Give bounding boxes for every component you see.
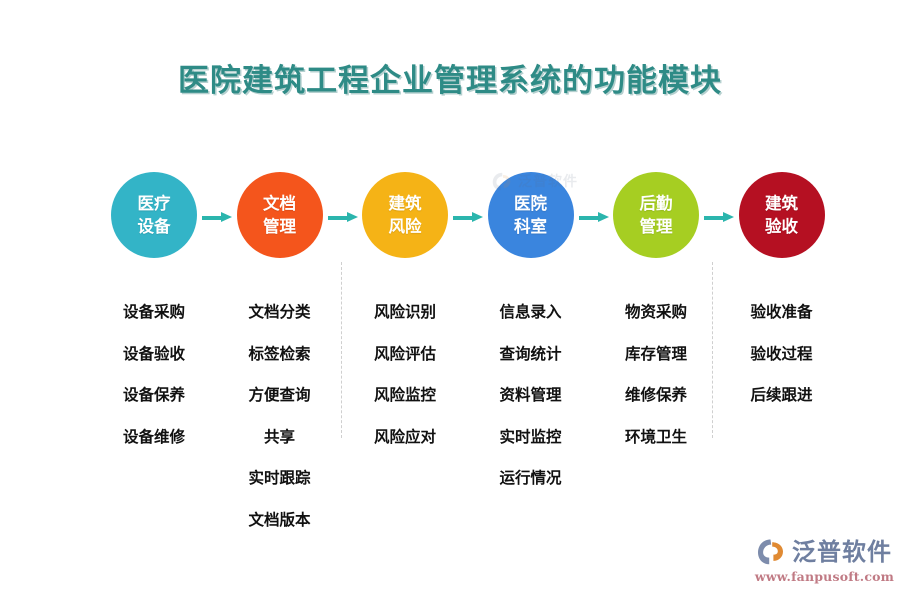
flow-node-medical-equipment[interactable]: 医疗设备: [111, 172, 197, 258]
slide-canvas: 医院建筑工程企业管理系统的功能模块 医疗设备文档管理建筑风险医院科室后勤管理建筑…: [0, 0, 900, 600]
flow-node-label-line2: 管理: [640, 215, 673, 238]
flow-node-label-line2: 管理: [263, 215, 296, 238]
flow-node-construction-risk[interactable]: 建筑风险: [362, 172, 448, 258]
fanpu-logo-icon: [757, 538, 787, 566]
flow-node-label-line1: 医疗: [138, 192, 171, 215]
feature-item[interactable]: 后续跟进: [707, 388, 857, 404]
logo-row: 泛普软件: [757, 538, 892, 566]
flow-node-logistics-management[interactable]: 后勤管理: [613, 172, 699, 258]
feature-item[interactable]: 环境卫生: [581, 430, 731, 446]
flow-node-document-management[interactable]: 文档管理: [237, 172, 323, 258]
flow-node-construction-acceptance[interactable]: 建筑验收: [739, 172, 825, 258]
flow-node-label-line1: 后勤: [640, 192, 673, 215]
feature-item[interactable]: 实时跟踪: [205, 471, 355, 487]
feature-item[interactable]: 验收准备: [707, 305, 857, 321]
process-flow: 医疗设备文档管理建筑风险医院科室后勤管理建筑验收: [0, 172, 900, 262]
flow-node-label-line2: 风险: [389, 215, 422, 238]
flow-node-label-line2: 科室: [514, 215, 547, 238]
flow-arrow-3: [453, 213, 483, 222]
flow-node-label-line2: 设备: [138, 215, 171, 238]
flow-node-hospital-department[interactable]: 医院科室: [488, 172, 574, 258]
flow-node-label-line2: 验收: [765, 215, 798, 238]
flow-arrow-1: [202, 213, 232, 222]
flow-arrow-2: [328, 213, 358, 222]
feature-item[interactable]: 验收过程: [707, 347, 857, 363]
flow-node-label-line1: 建筑: [765, 192, 798, 215]
brand-logo: 泛普软件 www.fanpusoft.com: [757, 538, 892, 584]
flow-node-label-line1: 文档: [263, 192, 296, 215]
flow-node-label-line1: 建筑: [389, 192, 422, 215]
flow-node-label-line1: 医院: [514, 192, 547, 215]
feature-column-construction-acceptance: 验收准备验收过程后续跟进: [707, 305, 857, 430]
flow-arrow-4: [579, 213, 609, 222]
feature-item[interactable]: 运行情况: [456, 471, 606, 487]
page-title: 医院建筑工程企业管理系统的功能模块: [0, 55, 900, 100]
logo-url: www.fanpusoft.com: [755, 569, 894, 584]
flow-arrow-5: [704, 213, 734, 222]
logo-name: 泛普软件: [792, 540, 892, 564]
feature-item[interactable]: 文档版本: [205, 513, 355, 529]
